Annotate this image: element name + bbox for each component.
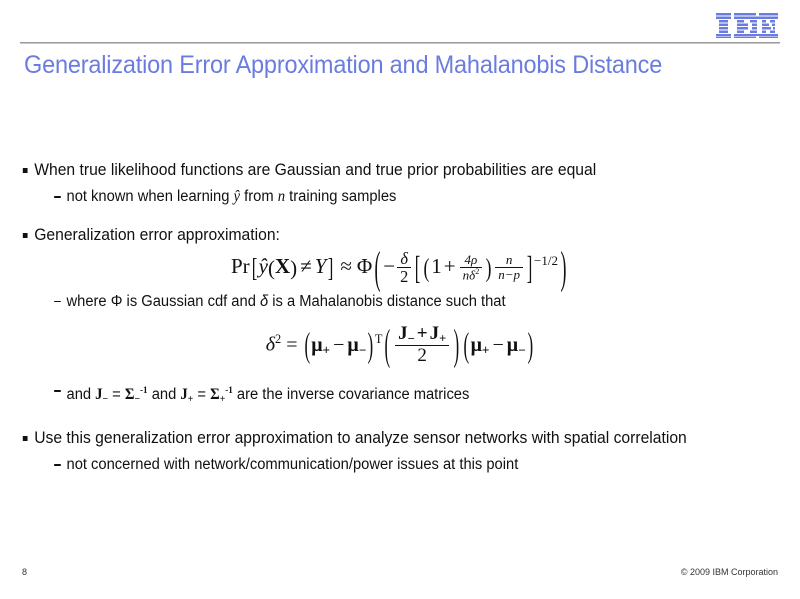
eq2-mu-plus-2: μ+ bbox=[471, 334, 490, 356]
eq1-n-minus-p: n−p bbox=[495, 267, 523, 282]
sub-bullet-1-1: not known when learning ŷ from n trainin… bbox=[0, 187, 770, 207]
eq1-Y: Y bbox=[315, 254, 327, 278]
sub-bullet-1-1-suffix: training samples bbox=[285, 188, 396, 205]
bullet-square-icon bbox=[23, 168, 28, 173]
eq-sign-2: = bbox=[193, 386, 210, 403]
sub-bullet-1-1-mid: from bbox=[240, 188, 278, 205]
eq2-minus-2: − bbox=[492, 334, 503, 356]
eq1-delta: δ bbox=[397, 250, 411, 267]
dash-icon bbox=[54, 464, 61, 466]
eq1-four-rho: 4ρ bbox=[460, 253, 483, 267]
equation-generalization-error: Pr[ŷ(X)≠Y]≈Φ(−δ2[(1+4ρnδ2)nn−p]−1/2) bbox=[0, 246, 800, 286]
slide-header bbox=[0, 0, 800, 44]
bullet-item-3: Use this generalization error approximat… bbox=[0, 428, 737, 449]
bullet-group-2: Generalization error approximation: Pr[ŷ… bbox=[0, 225, 800, 410]
eq1-n-num: n bbox=[495, 253, 523, 267]
eq2-delta: δ bbox=[266, 334, 275, 356]
eq1-lparen-big: ( bbox=[373, 246, 382, 291]
eq1-minus: − bbox=[383, 254, 395, 278]
eq1-approx: ≈ bbox=[340, 254, 352, 278]
dash-icon bbox=[54, 196, 61, 198]
sub-bullet-2-1: where Φ is Gaussian cdf and δ is a Mahal… bbox=[0, 292, 770, 312]
bullet-group-3: Use this generalization error approximat… bbox=[0, 428, 800, 475]
eq1-pr: Pr bbox=[231, 254, 250, 278]
eq1-rbracket: ] bbox=[327, 255, 334, 281]
sub-bullet-2-2-suffix: are the inverse covariance matrices bbox=[233, 386, 470, 403]
eq2-denom-two: 2 bbox=[395, 345, 449, 366]
eq1-lbracket: [ bbox=[251, 255, 258, 281]
J-plus-symbol: J+ bbox=[180, 386, 193, 403]
ibm-logo bbox=[716, 13, 778, 38]
bullet-item-2: Generalization error approximation: bbox=[0, 225, 737, 246]
eq1-rparen-inner: ) bbox=[485, 255, 493, 281]
eq2-minus-1: − bbox=[333, 334, 344, 356]
eq1-plus: + bbox=[444, 254, 456, 278]
eq1-rbracket-big: ] bbox=[526, 252, 533, 285]
J-minus-symbol: J− bbox=[95, 386, 108, 403]
phi-symbol: Φ bbox=[111, 293, 123, 310]
header-divider bbox=[20, 42, 780, 44]
eq2-lparen-frac: ( bbox=[383, 324, 392, 367]
eq1-rparen-x: ) bbox=[290, 258, 297, 279]
slide-footer: 8 © 2009 IBM Corporation bbox=[0, 565, 800, 585]
sub-bullet-2-1-prefix: where bbox=[67, 293, 111, 310]
eq2-mu-minus-2: μ− bbox=[507, 334, 526, 356]
page-number: 8 bbox=[22, 567, 27, 577]
n-symbol: n bbox=[278, 188, 285, 205]
eq1-delta-exp: 2 bbox=[475, 267, 479, 276]
sub-bullet-1-1-prefix: not known when learning bbox=[67, 188, 234, 205]
eq2-lparen-1: ( bbox=[303, 328, 310, 363]
eq1-yhat: ŷ bbox=[259, 254, 268, 278]
eq1-phi: Φ bbox=[357, 254, 372, 278]
sub-bullet-2-1-mid: is Gaussian cdf and bbox=[122, 293, 260, 310]
sub-bullet-2-2: and J− = Σ−-1 and J+ = Σ+-1 are the inve… bbox=[0, 381, 770, 410]
eq1-two: 2 bbox=[397, 267, 411, 285]
slide-body: When true likelihood functions are Gauss… bbox=[0, 160, 800, 550]
sub-bullet-2-1-suffix: is a Mahalanobis distance such that bbox=[268, 293, 505, 310]
eq1-one: 1 bbox=[431, 254, 442, 278]
eq1-lbracket-big: [ bbox=[414, 252, 421, 285]
eq1-exponent: −1/2 bbox=[534, 253, 558, 268]
bullet-item-1-label: When true likelihood functions are Gauss… bbox=[34, 161, 596, 179]
eq1-rparen-big: ) bbox=[559, 246, 568, 291]
page-title: Generalization Error Approximation and M… bbox=[24, 50, 720, 80]
bullet-item-2-label: Generalization error approximation: bbox=[34, 226, 280, 244]
sub-bullet-2-2-prefix: and bbox=[67, 386, 96, 403]
eq2-transpose: T bbox=[375, 332, 383, 346]
eq-sign-1: = bbox=[108, 386, 125, 403]
sub-bullet-3-1: not concerned with network/communication… bbox=[0, 455, 770, 475]
eq2-J-sum: J−+J+ bbox=[395, 324, 449, 346]
equation-mahalanobis-distance: δ2=(μ+−μ−)T(J−+J+2)(μ+−μ−) bbox=[0, 322, 800, 367]
bullet-item-3-label: Use this generalization error approximat… bbox=[34, 429, 687, 447]
eq2-lparen-2: ( bbox=[463, 328, 470, 363]
eq2-mu-minus-1: μ− bbox=[347, 334, 366, 356]
eq1-n-delta-sq: nδ2 bbox=[460, 267, 483, 282]
eq2-mu-plus-1: μ+ bbox=[311, 334, 330, 356]
bullet-square-icon bbox=[23, 436, 28, 441]
sub-bullet-3-1-label: not concerned with network/communication… bbox=[67, 456, 519, 473]
Sigma-plus-symbol: Σ+-1 bbox=[210, 386, 233, 403]
eq2-rparen-frac: ) bbox=[452, 324, 461, 367]
bullet-square-icon bbox=[23, 233, 28, 238]
eq2-delta-exp: 2 bbox=[275, 332, 281, 346]
eq2-equals: = bbox=[286, 334, 297, 356]
eq1-lparen-inner: ( bbox=[423, 255, 431, 281]
eq1-frac-delta-2: δ2 bbox=[397, 250, 411, 285]
eq1-X: X bbox=[275, 254, 290, 278]
Sigma-minus-symbol: Σ−-1 bbox=[125, 386, 148, 403]
eq1-lparen-x: ( bbox=[268, 258, 275, 279]
dash-icon bbox=[54, 301, 61, 303]
eq2-rparen-2: ) bbox=[526, 328, 533, 363]
bullet-group-1: When true likelihood functions are Gauss… bbox=[0, 160, 800, 207]
eq2-frac-J: J−+J+2 bbox=[395, 324, 449, 367]
eq1-frac-rho: 4ρnδ2 bbox=[460, 253, 483, 282]
eq1-neq: ≠ bbox=[300, 254, 312, 278]
eq1-frac-n: nn−p bbox=[495, 253, 523, 281]
bullet-item-1: When true likelihood functions are Gauss… bbox=[0, 160, 737, 181]
sub-bullet-2-2-and: and bbox=[148, 386, 181, 403]
eq2-rparen-1: ) bbox=[367, 328, 374, 363]
copyright-notice: © 2009 IBM Corporation bbox=[681, 567, 778, 577]
dash-icon bbox=[54, 390, 61, 392]
